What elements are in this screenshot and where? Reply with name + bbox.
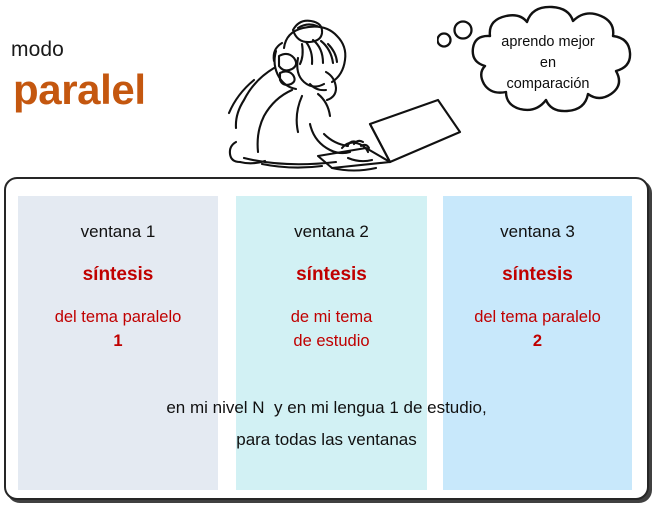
column-2-body-line-1: de mi tema [236,305,427,329]
thought-line-1: aprendo mejor [464,32,632,53]
column-1-body-line-1: del tema paralelo [18,305,218,329]
column-3-heading: síntesis [443,264,632,286]
column-2-body: de mi tema de estudio [236,305,427,354]
window-column-3[interactable]: ventana 3 síntesis del tema paralelo 2 [443,196,632,490]
thought-line-3: comparación [464,74,632,95]
column-1-title: ventana 1 [18,222,218,242]
thought-bubble-text: aprendo mejor en comparación [464,32,632,95]
window-column-2[interactable]: ventana 2 síntesis de mi tema de estudio [236,196,427,490]
column-2-title: ventana 2 [236,222,427,242]
column-3-body: del tema paralelo 2 [443,305,632,354]
column-1-body-line-2: 1 [113,332,122,350]
column-2-heading: síntesis [236,264,427,286]
page-title-paralel: paralel [13,66,146,114]
column-2-body-line-2: de estudio [236,329,427,353]
person-studying-at-laptop-illustration [214,0,464,176]
column-3-body-line-1: del tema paralelo [443,305,632,329]
slide-canvas: modo paralel [0,0,657,512]
column-3-title: ventana 3 [443,222,632,242]
column-3-body-line-2: 2 [533,332,542,350]
column-1-body: del tema paralelo 1 [18,305,218,354]
window-column-1[interactable]: ventana 1 síntesis del tema paralelo 1 [18,196,218,490]
page-title-modo: modo [11,38,64,62]
thought-line-2: en [464,53,632,74]
column-1-heading: síntesis [18,264,218,286]
